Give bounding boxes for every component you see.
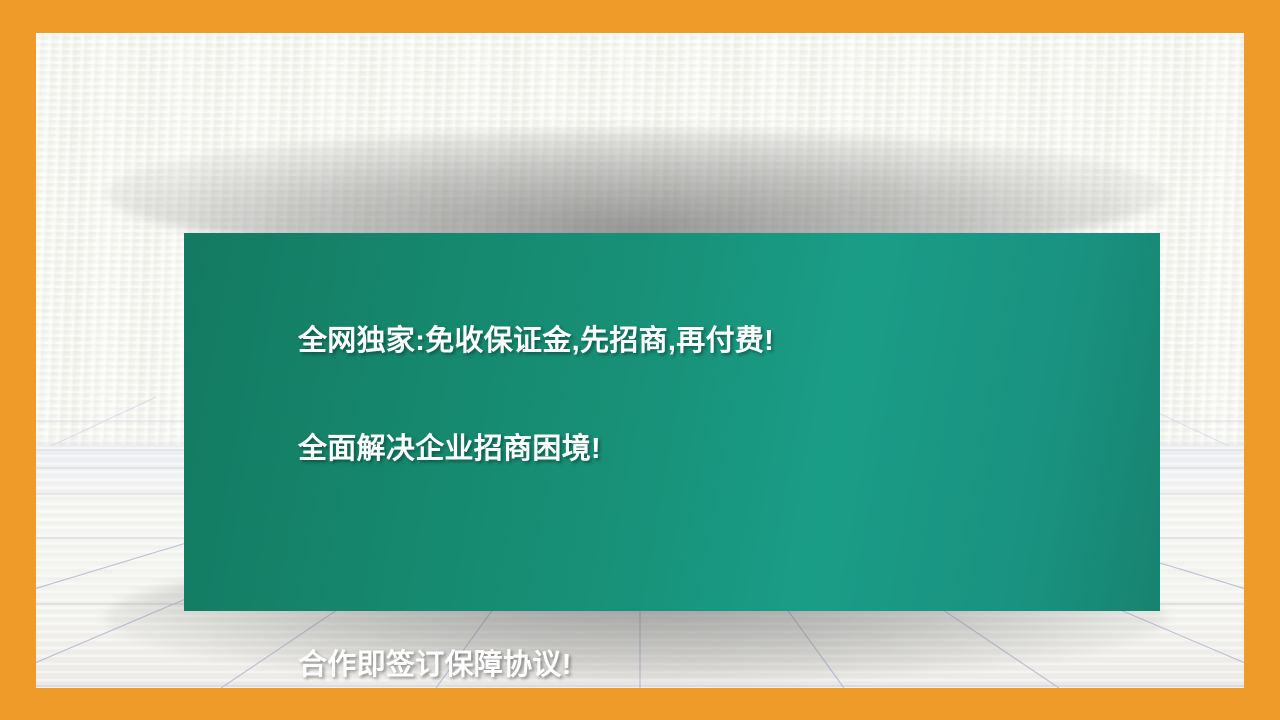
promo-line-1: 全网独家:免收保证金,先招商,再付费! — [298, 323, 1146, 359]
promo-panel: 全网独家:免收保证金,先招商,再付费! 全面解决企业招商困境! 合作即签订保障协… — [184, 233, 1160, 611]
promo-line-2: 全面解决企业招商困境! — [298, 431, 1146, 467]
promo-text-block: 全网独家:免收保证金,先招商,再付费! 全面解决企业招商困境! 合作即签订保障协… — [298, 251, 1146, 688]
promo-spacer-1 — [298, 539, 1146, 575]
room-background: 全网独家:免收保证金,先招商,再付费! 全面解决企业招商困境! 合作即签订保障协… — [36, 33, 1244, 688]
promo-line-4: 合作即签订保障协议! — [298, 647, 1146, 683]
slide-root: 全网独家:免收保证金,先招商,再付费! 全面解决企业招商困境! 合作即签订保障协… — [0, 0, 1280, 720]
